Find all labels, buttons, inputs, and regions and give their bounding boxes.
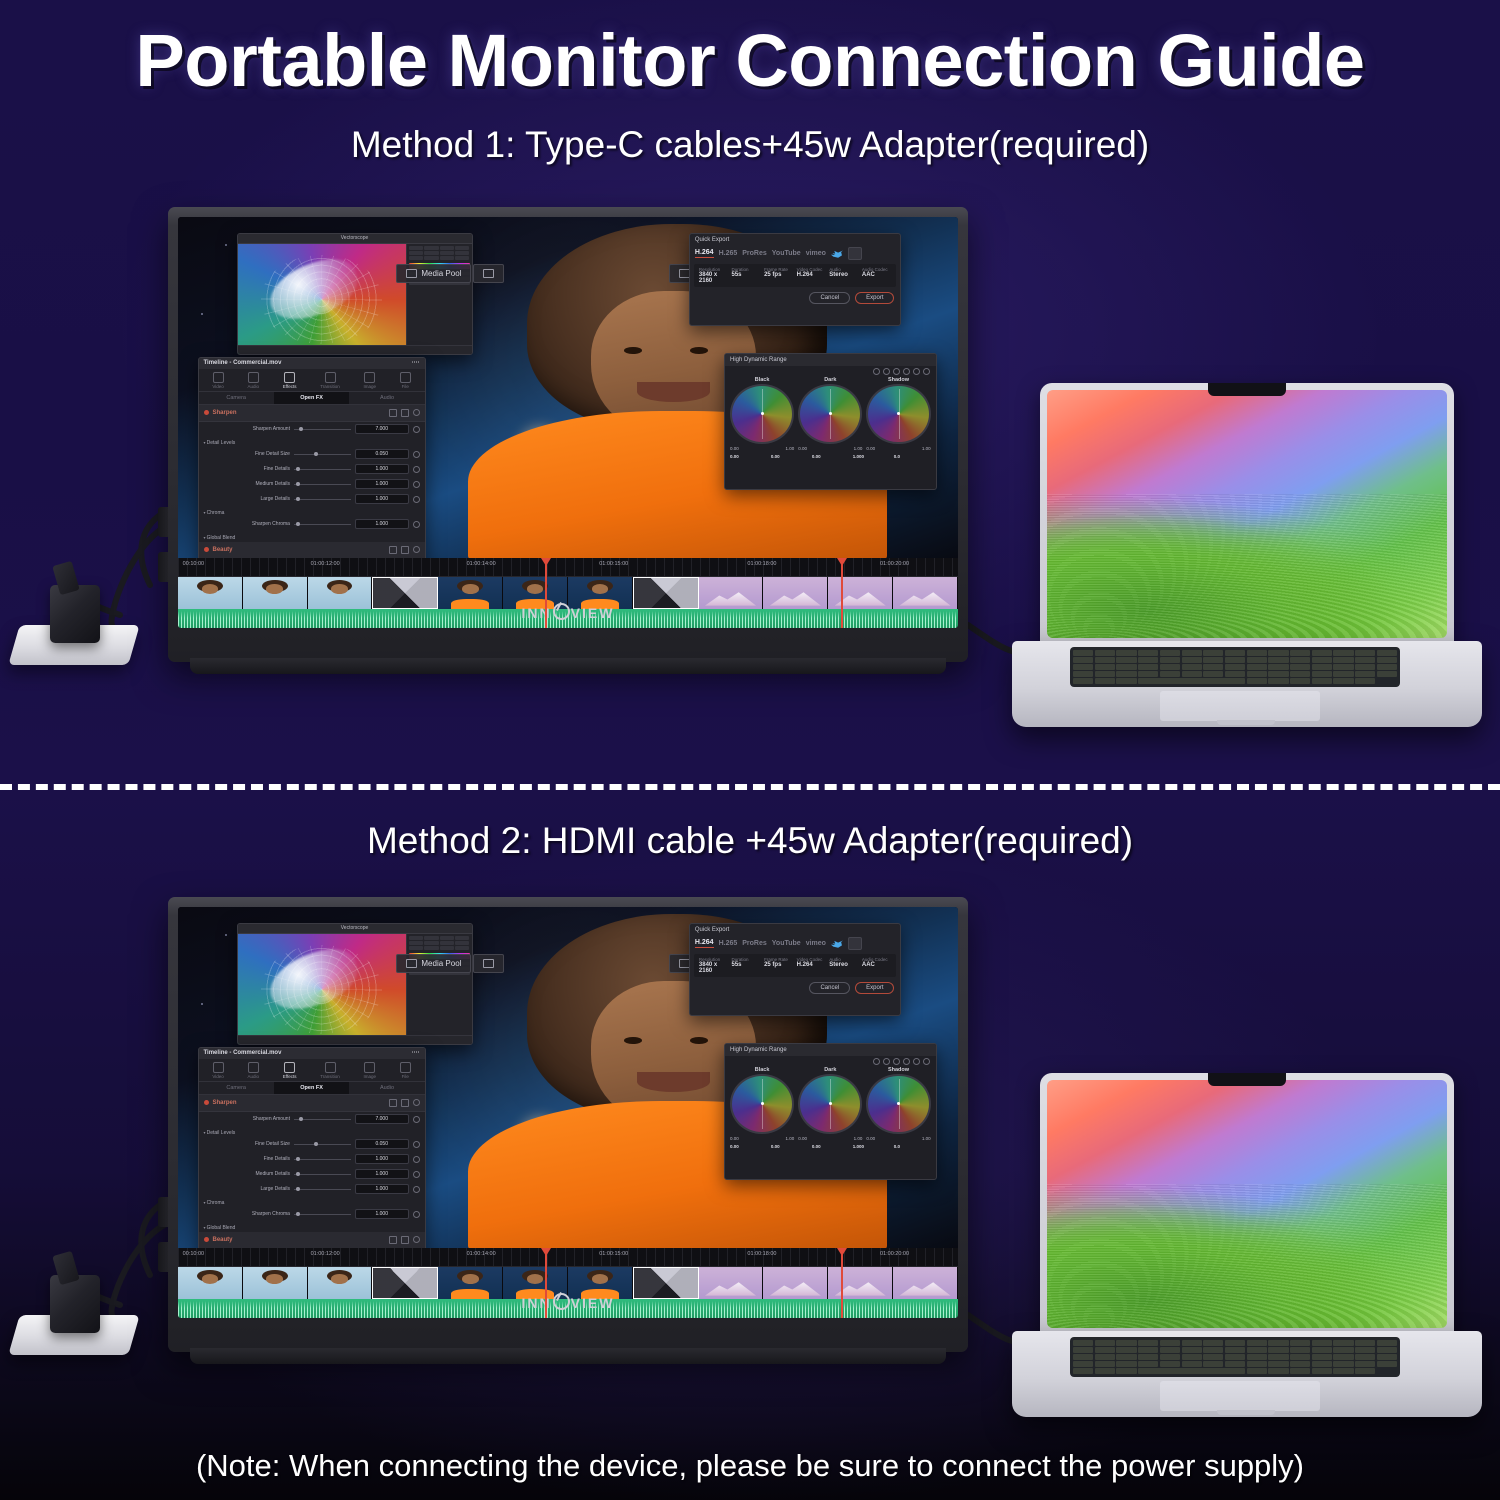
tab-transition[interactable]: Transition — [320, 1062, 340, 1079]
effects-title: Timeline - Commercial.mov — [204, 358, 282, 369]
format-youtube[interactable]: YouTube — [772, 940, 801, 947]
brand-o-icon — [553, 1293, 570, 1310]
param-value[interactable]: 1.000 — [355, 479, 409, 489]
param-sharpen-amount[interactable]: Sharpen Amount 7.000 — [199, 422, 425, 437]
param-keyframe-icon[interactable] — [413, 481, 420, 488]
effect-enable-toggle[interactable] — [204, 547, 209, 552]
subject-eye-right — [690, 1037, 708, 1044]
effects-titlebar: Timeline - Commercial.mov ···· — [199, 1048, 425, 1059]
effects-subtabs[interactable]: Camera Open FX Audio — [199, 391, 425, 405]
quick-export-actions: Cancel Export — [690, 979, 901, 997]
brand-suffix: VIEW — [571, 605, 615, 621]
effects-subtabs[interactable]: Camera Open FX Audio — [199, 1081, 425, 1095]
hdr-tools[interactable] — [725, 1056, 936, 1067]
param-large-details[interactable]: Large Details 1.000 — [199, 1182, 425, 1197]
param-keyframe-icon[interactable] — [413, 521, 420, 528]
wheel-ring-dark[interactable] — [798, 1074, 862, 1134]
media-pool-button[interactable]: Media Pool — [396, 954, 471, 973]
vectorscope-footer — [238, 1035, 472, 1044]
wheel-sat-black: 1.00 — [785, 446, 794, 451]
group-detail-levels[interactable]: Detail Levels — [199, 437, 425, 447]
tab-transition[interactable]: Transition — [320, 372, 340, 389]
format-vimeo[interactable]: vimeo — [806, 940, 826, 947]
section-divider — [0, 784, 1500, 790]
param-value[interactable]: 1.000 — [355, 464, 409, 474]
wheel-exp-black: 0.00 — [730, 446, 739, 451]
wheel-values-black: 0.00 1.00 — [730, 446, 794, 451]
param-keyframe-icon[interactable] — [413, 466, 420, 473]
laptop-screen — [1047, 1080, 1447, 1328]
laptop-notch — [1208, 383, 1286, 396]
vectorscope-controls[interactable] — [406, 934, 472, 1044]
param-label: Large Details — [204, 496, 290, 502]
timecode-4: 01:00:18:00 — [747, 561, 776, 567]
effect-header-beauty[interactable]: Beauty — [199, 1232, 425, 1249]
laptop-2 — [1012, 1073, 1482, 1423]
spec-audiocodec: Audio Codec AAC — [862, 957, 892, 974]
timecode-0: 00:10:00 — [183, 1251, 204, 1257]
reset-icon[interactable] — [389, 1236, 397, 1244]
hdr-footer: 0.00 0.00 0.00 1.000 0.0 — [725, 451, 936, 462]
hdr-tool-icon-6[interactable] — [923, 1058, 930, 1065]
effect-enable-toggle[interactable] — [204, 1100, 209, 1105]
trash-icon[interactable] — [401, 1099, 409, 1107]
param-sharpen-chroma[interactable]: Sharpen Chroma 1.000 — [199, 1207, 425, 1222]
format-youtube[interactable]: YouTube — [772, 250, 801, 257]
param-keyframe-icon[interactable] — [413, 451, 420, 458]
laptop-lid — [1040, 383, 1454, 645]
portable-monitor-1: Vectorscope — [168, 207, 968, 662]
quick-export-title: Quick Export — [690, 924, 901, 935]
param-slider[interactable] — [294, 469, 351, 470]
hdr-color-wheels: Black 0.00 1.00 Dark — [725, 1067, 936, 1141]
laptop-lip — [1217, 720, 1275, 725]
effect-header-sharpen[interactable]: Sharpen — [199, 1095, 425, 1112]
quick-export-actions: Cancel Export — [690, 289, 901, 307]
laptop-screen — [1047, 390, 1447, 638]
hdr-pivot: 0.0 — [894, 1144, 931, 1149]
monitor-body: Vectorscope — [168, 897, 968, 1352]
hdr-tools[interactable] — [725, 366, 936, 377]
param-slider[interactable] — [294, 454, 351, 455]
color-wheel-shadow[interactable]: Shadow 0.00 1.00 — [866, 1067, 930, 1141]
media-pool-label: Media Pool — [421, 959, 461, 968]
timecode-2: 01:00:14:00 — [467, 561, 496, 567]
param-sharpen-chroma[interactable]: Sharpen Chroma 1.000 — [199, 517, 425, 532]
twitter-icon[interactable] — [831, 249, 843, 258]
param-keyframe-icon[interactable] — [413, 1186, 420, 1193]
subtab-openfx[interactable]: Open FX — [274, 392, 349, 404]
hdr-tint: 0.00 — [771, 454, 808, 459]
method-1-heading: Method 1: Type-C cables+45w Adapter(requ… — [0, 124, 1500, 166]
hdr-contrast: 1.000 — [853, 454, 890, 459]
spec-resolution: Resolution 3840 x 2160 — [699, 267, 729, 284]
export-button[interactable]: Export — [855, 982, 894, 994]
param-slider[interactable] — [294, 429, 351, 430]
param-label: Sharpen Amount — [204, 426, 290, 432]
timecode-1: 01:00:12:00 — [311, 1251, 340, 1257]
media-pool-button[interactable]: Media Pool — [396, 264, 471, 283]
hdr-tool-icon-4[interactable] — [903, 368, 910, 375]
laptop-base — [1012, 1331, 1482, 1417]
tab-video[interactable]: Video — [212, 1062, 223, 1079]
timecode-3: 01:00:15:00 — [599, 1251, 628, 1257]
effects-title: Timeline - Commercial.mov — [204, 1048, 282, 1059]
spec-duration-value: 55s — [731, 272, 761, 278]
infographic-page: Portable Monitor Connection Guide Method… — [0, 0, 1500, 1500]
laptop-1 — [1012, 383, 1482, 733]
hdr-tool-icon-3[interactable] — [893, 1058, 900, 1065]
cancel-button[interactable]: Cancel — [809, 292, 850, 304]
subtab-openfx[interactable]: Open FX — [274, 1082, 349, 1094]
format-h264[interactable]: H.264 — [695, 249, 714, 258]
wheel-label-dark: Dark — [798, 377, 862, 383]
method-2-heading: Method 2: HDMI cable +45w Adapter(requir… — [0, 820, 1500, 862]
wheel-ring-black[interactable] — [730, 384, 794, 444]
param-keyframe-icon[interactable] — [413, 1171, 420, 1178]
hdr-hue: 0.00 — [812, 454, 849, 459]
quick-export-window[interactable]: Quick Export H.264 H.265 ProRes YouTube … — [689, 233, 902, 325]
hdr-contrast: 1.000 — [853, 1144, 890, 1149]
twitter-icon[interactable] — [831, 939, 843, 948]
portable-monitor-2: Vectorscope — [168, 897, 968, 1352]
spec-videocodec: Video Codec H.264 — [797, 267, 827, 284]
monitor-screen: Vectorscope — [178, 217, 958, 628]
subtab-audio[interactable]: Audio — [349, 1082, 424, 1094]
spec-resolution-value: 3840 x 2160 — [699, 272, 729, 284]
hdr-window[interactable]: High Dynamic Range Black — [724, 353, 937, 491]
param-fine-detail-size[interactable]: Fine Detail Size 0.050 — [199, 1137, 425, 1152]
toolbar-extra-button[interactable] — [473, 264, 504, 283]
param-fine-details[interactable]: Fine Details 1.000 — [199, 462, 425, 477]
keyframe-icon[interactable] — [413, 1236, 420, 1243]
vectorscope-titlebar: Vectorscope — [238, 234, 472, 244]
editor-toolbar: Media Pool — [396, 264, 504, 283]
brand-prefix: INN — [522, 1295, 552, 1311]
hdr-tool-icon-2[interactable] — [883, 368, 890, 375]
spec-duration: Duration 55s — [731, 267, 761, 284]
reset-icon[interactable] — [389, 546, 397, 554]
param-value[interactable]: 0.050 — [355, 449, 409, 459]
footer-note: (Note: When connecting the device, pleas… — [0, 1448, 1500, 1484]
vectorscope-trace — [262, 251, 364, 327]
tab-audio[interactable]: Audio — [248, 1062, 260, 1079]
group-chroma[interactable]: Chroma — [199, 507, 425, 517]
timecode-1: 01:00:12:00 — [311, 561, 340, 567]
param-label: Sharpen Chroma — [204, 521, 290, 527]
param-keyframe-icon[interactable] — [413, 496, 420, 503]
hdr-temp: 0.00 — [730, 1144, 767, 1149]
adapter-brick — [50, 1275, 100, 1333]
tab-file[interactable]: File — [400, 1062, 411, 1079]
spec-resolution: Resolution 3840 x 2160 — [699, 957, 729, 974]
color-wheel-dark[interactable]: Dark 0.00 1.00 — [798, 377, 862, 451]
hdr-color-wheels: Black 0.00 1.00 Dark — [725, 377, 936, 451]
hdr-title: High Dynamic Range — [725, 1044, 936, 1056]
wheel-sat-shadow: 1.00 — [922, 446, 931, 451]
wheel-sat-dark: 1.00 — [854, 446, 863, 451]
hdr-temp: 0.00 — [730, 454, 767, 459]
effects-titlebar: Timeline - Commercial.mov ···· — [199, 358, 425, 369]
wheel-values-dark: 0.00 1.00 — [798, 446, 862, 451]
page-title: Portable Monitor Connection Guide — [0, 18, 1500, 103]
panel-icon — [483, 269, 494, 278]
param-large-details[interactable]: Large Details 1.000 — [199, 492, 425, 507]
effect-enable-toggle[interactable] — [204, 410, 209, 415]
spec-framerate: Frame Rate 25 fps — [764, 267, 794, 284]
quick-export-formats[interactable]: H.264 H.265 ProRes YouTube vimeo — [690, 935, 901, 952]
tab-effects[interactable]: Effects — [283, 372, 297, 389]
panel-icon — [483, 959, 494, 968]
laptop-lid — [1040, 1073, 1454, 1335]
hdr-footer: 0.00 0.00 0.00 1.000 0.0 — [725, 1141, 936, 1152]
trash-icon[interactable] — [401, 1236, 409, 1244]
hdr-tint: 0.00 — [771, 1144, 808, 1149]
more-destinations-icon[interactable] — [848, 247, 862, 260]
param-value[interactable]: 7.000 — [355, 424, 409, 434]
trash-icon[interactable] — [401, 409, 409, 417]
timecode-5: 01:00:20:00 — [880, 561, 909, 567]
playhead-marker[interactable] — [841, 558, 843, 628]
hdr-title: High Dynamic Range — [725, 354, 936, 366]
color-wheel-shadow[interactable]: Shadow 0.00 1.00 — [866, 377, 930, 451]
brand-suffix: VIEW — [571, 1295, 615, 1311]
playhead[interactable] — [545, 558, 547, 628]
effect-name-sharpen: Sharpen — [213, 410, 385, 416]
subject-eye-right — [690, 347, 708, 354]
wheel-ring-shadow[interactable] — [866, 384, 930, 444]
subject-smile — [637, 1072, 709, 1093]
laptop-notch — [1208, 1073, 1286, 1086]
param-medium-details[interactable]: Medium Details 1.000 — [199, 1167, 425, 1182]
subtab-audio[interactable]: Audio — [349, 392, 424, 404]
laptop-base — [1012, 641, 1482, 727]
subject-eye-left — [624, 347, 642, 354]
group-global-blend[interactable]: Global Blend — [199, 532, 425, 542]
vectorscope-wheel — [238, 934, 406, 1044]
format-h265[interactable]: H.265 — [719, 250, 738, 257]
effects-window-menu-icon[interactable]: ···· — [412, 358, 420, 369]
media-pool-icon — [406, 959, 417, 968]
param-keyframe-icon[interactable] — [413, 1156, 420, 1163]
scene-method-2: Vectorscope — [0, 885, 1500, 1445]
tab-file[interactable]: File — [400, 372, 411, 389]
spec-framerate: Frame Rate 25 fps — [764, 957, 794, 974]
subtab-camera[interactable]: Camera — [199, 392, 274, 404]
vectorscope-titlebar: Vectorscope — [238, 924, 472, 934]
vectorscope-trace — [262, 941, 364, 1017]
wheel-ring-black[interactable] — [730, 1074, 794, 1134]
laptop-trackpad[interactable] — [1160, 691, 1320, 721]
vectorscope-footer — [238, 345, 472, 354]
param-medium-details[interactable]: Medium Details 1.000 — [199, 477, 425, 492]
vectorscope-wheel — [238, 244, 406, 354]
param-value[interactable]: 1.000 — [355, 519, 409, 529]
monitor-stand — [190, 1348, 946, 1364]
adapter-brick — [50, 585, 100, 643]
timecode-2: 01:00:14:00 — [467, 1251, 496, 1257]
hdr-hue: 0.00 — [812, 1144, 849, 1149]
wheel-ring-dark[interactable] — [798, 384, 862, 444]
format-h265[interactable]: H.265 — [719, 940, 738, 947]
quick-export-window[interactable]: Quick Export H.264 H.265 ProRes YouTube … — [689, 923, 902, 1015]
vectorscope-body — [238, 244, 472, 354]
hdr-tool-icon-4[interactable] — [903, 1058, 910, 1065]
monitor-screen: Vectorscope — [178, 907, 958, 1318]
editor-toolbar: Media Pool — [396, 954, 504, 973]
param-label: Fine Detail Size — [204, 451, 290, 457]
color-wheel-black[interactable]: Black 0.00 1.00 — [730, 377, 794, 451]
wheel-label-black: Black — [730, 377, 794, 383]
subject-smile — [637, 382, 709, 403]
reset-icon[interactable] — [389, 1099, 397, 1107]
wheel-label-shadow: Shadow — [866, 377, 930, 383]
effect-header-sharpen[interactable]: Sharpen — [199, 405, 425, 422]
keyframe-icon[interactable] — [413, 546, 420, 553]
color-wheel-black[interactable]: Black 0.00 1.00 — [730, 1067, 794, 1141]
spec-duration: Duration 55s — [731, 957, 761, 974]
laptop-trackpad[interactable] — [1160, 1381, 1320, 1411]
format-prores[interactable]: ProRes — [742, 940, 767, 947]
playhead[interactable] — [545, 1248, 547, 1318]
subject-eye-left — [624, 1037, 642, 1044]
effect-name-beauty: Beauty — [213, 547, 385, 553]
quick-export-formats[interactable]: H.264 H.265 ProRes YouTube vimeo — [690, 245, 901, 262]
param-sharpen-amount[interactable]: Sharpen Amount 7.000 — [199, 1112, 425, 1127]
group-global-blend[interactable]: Global Blend — [199, 1222, 425, 1232]
param-keyframe-icon[interactable] — [413, 1211, 420, 1218]
vectorscope-body — [238, 934, 472, 1044]
tab-image[interactable]: Image — [364, 372, 377, 389]
format-vimeo[interactable]: vimeo — [806, 250, 826, 257]
param-slider[interactable] — [294, 484, 351, 485]
spec-audio: Audio Stereo — [829, 267, 859, 284]
timecode-4: 01:00:18:00 — [747, 1251, 776, 1257]
quick-export-specs: Resolution 3840 x 2160 Duration 55s Fram… — [694, 954, 897, 977]
param-label: Medium Details — [204, 481, 290, 487]
effect-enable-toggle[interactable] — [204, 1237, 209, 1242]
subtab-camera[interactable]: Camera — [199, 1082, 274, 1094]
tab-audio[interactable]: Audio — [248, 372, 260, 389]
param-label: Fine Details — [204, 466, 290, 472]
playhead-marker[interactable] — [841, 1248, 843, 1318]
hdr-pivot: 0.0 — [894, 454, 931, 459]
monitor-body: Vectorscope — [168, 207, 968, 662]
param-value[interactable]: 1.000 — [355, 494, 409, 504]
effects-tabs[interactable]: Video Audio Effects Transition Image Fil… — [199, 1059, 425, 1081]
monitor-stand — [190, 658, 946, 674]
effect-header-beauty[interactable]: Beauty — [199, 542, 425, 559]
brand-prefix: INN — [522, 605, 552, 621]
hdr-tool-icon-2[interactable] — [883, 1058, 890, 1065]
vectorscope-window[interactable]: Vectorscope — [237, 233, 473, 354]
laptop-lip — [1217, 1410, 1275, 1415]
spec-videocodec-value: H.264 — [797, 272, 827, 278]
media-pool-icon — [406, 269, 417, 278]
tab-video[interactable]: Video — [212, 372, 223, 389]
param-fine-details[interactable]: Fine Details 1.000 — [199, 1152, 425, 1167]
group-detail-levels[interactable]: Detail Levels — [199, 1127, 425, 1137]
color-wheel-dark[interactable]: Dark 0.00 1.00 — [798, 1067, 862, 1141]
scene-method-1: Vectorscope — [0, 195, 1500, 755]
param-slider[interactable] — [294, 524, 351, 525]
export-button[interactable]: Export — [855, 292, 894, 304]
effects-tabs[interactable]: Video Audio Effects Transition Image Fil… — [199, 369, 425, 391]
format-h264[interactable]: H.264 — [695, 939, 714, 948]
brand-o-icon — [553, 603, 570, 620]
quick-export-title: Quick Export — [690, 234, 901, 245]
spec-audiocodec: Audio Codec AAC — [862, 267, 892, 284]
laptop-keyboard[interactable] — [1070, 647, 1400, 687]
hdr-tool-icon-3[interactable] — [893, 368, 900, 375]
param-slider[interactable] — [294, 499, 351, 500]
tab-effects[interactable]: Effects — [283, 1062, 297, 1079]
param-keyframe-icon[interactable] — [413, 1141, 420, 1148]
vectorscope-window[interactable]: Vectorscope — [237, 923, 473, 1044]
media-pool-label: Media Pool — [421, 269, 461, 278]
hdr-tool-icon-6[interactable] — [923, 368, 930, 375]
keyframe-icon[interactable] — [413, 409, 420, 416]
format-prores[interactable]: ProRes — [742, 250, 767, 257]
hdr-tool-icon-5[interactable] — [913, 368, 920, 375]
reset-icon[interactable] — [389, 409, 397, 417]
wheel-exp-dark: 0.00 — [798, 446, 807, 451]
spec-audio-value: Stereo — [829, 272, 859, 278]
spec-videocodec: Video Codec H.264 — [797, 957, 827, 974]
timecode-0: 00:10:00 — [183, 561, 204, 567]
hdr-window[interactable]: High Dynamic Range Black — [724, 1043, 937, 1181]
hdr-tool-icon-1[interactable] — [873, 368, 880, 375]
toolbar-extra-button[interactable] — [473, 954, 504, 973]
more-destinations-icon[interactable] — [848, 937, 862, 950]
timecode-5: 01:00:20:00 — [880, 1251, 909, 1257]
tab-image[interactable]: Image — [364, 1062, 377, 1079]
spec-audio: Audio Stereo — [829, 957, 859, 974]
timecode-3: 01:00:15:00 — [599, 561, 628, 567]
hdr-tool-icon-1[interactable] — [873, 1058, 880, 1065]
effects-window-menu-icon[interactable]: ···· — [412, 1048, 420, 1059]
laptop-keyboard[interactable] — [1070, 1337, 1400, 1377]
param-keyframe-icon[interactable] — [413, 1116, 420, 1123]
vectorscope-controls[interactable] — [406, 244, 472, 354]
trash-icon[interactable] — [401, 546, 409, 554]
cancel-button[interactable]: Cancel — [809, 982, 850, 994]
quick-export-specs: Resolution 3840 x 2160 Duration 55s Fram… — [694, 264, 897, 287]
param-fine-detail-size[interactable]: Fine Detail Size 0.050 — [199, 447, 425, 462]
group-chroma[interactable]: Chroma — [199, 1197, 425, 1207]
wheel-exp-shadow: 0.00 — [866, 446, 875, 451]
wheel-values-shadow: 0.00 1.00 — [866, 446, 930, 451]
spec-audiocodec-value: AAC — [862, 272, 892, 278]
hdr-tool-icon-5[interactable] — [913, 1058, 920, 1065]
keyframe-icon[interactable] — [413, 1099, 420, 1106]
wheel-ring-shadow[interactable] — [866, 1074, 930, 1134]
spec-framerate-value: 25 fps — [764, 272, 794, 278]
param-keyframe-icon[interactable] — [413, 426, 420, 433]
